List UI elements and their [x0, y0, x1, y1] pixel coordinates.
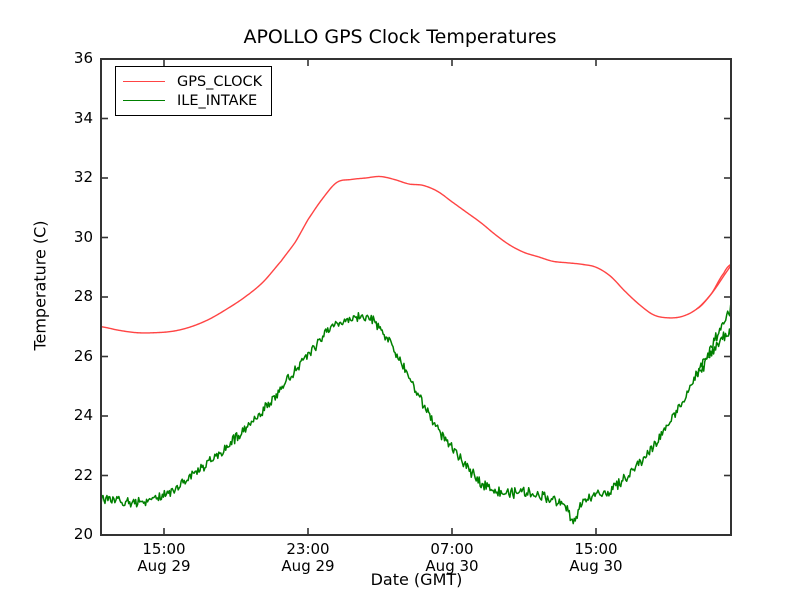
legend-color-swatch	[123, 81, 165, 82]
legend-label: ILE_INTAKE	[177, 93, 257, 109]
legend-item[interactable]: ILE_INTAKE	[123, 91, 262, 110]
series-line-gps_clock	[101, 176, 731, 332]
legend-label: GPS_CLOCK	[177, 74, 262, 90]
chart-title: APOLLO GPS Clock Temperatures	[0, 26, 800, 48]
y-axis-label: Temperature (C)	[31, 136, 50, 436]
legend-color-swatch	[123, 100, 165, 101]
series-line-gps_clock_tail	[697, 260, 735, 308]
legend-item[interactable]: GPS_CLOCK	[123, 72, 262, 91]
chart-figure: APOLLO GPS Clock Temperatures Temperatur…	[0, 0, 800, 600]
x-axis-label: Date (GMT)	[101, 570, 732, 589]
series-line-ile_intake	[101, 305, 731, 524]
data-series-layer	[101, 176, 734, 523]
chart-legend: GPS_CLOCKILE_INTAKE	[115, 66, 272, 116]
